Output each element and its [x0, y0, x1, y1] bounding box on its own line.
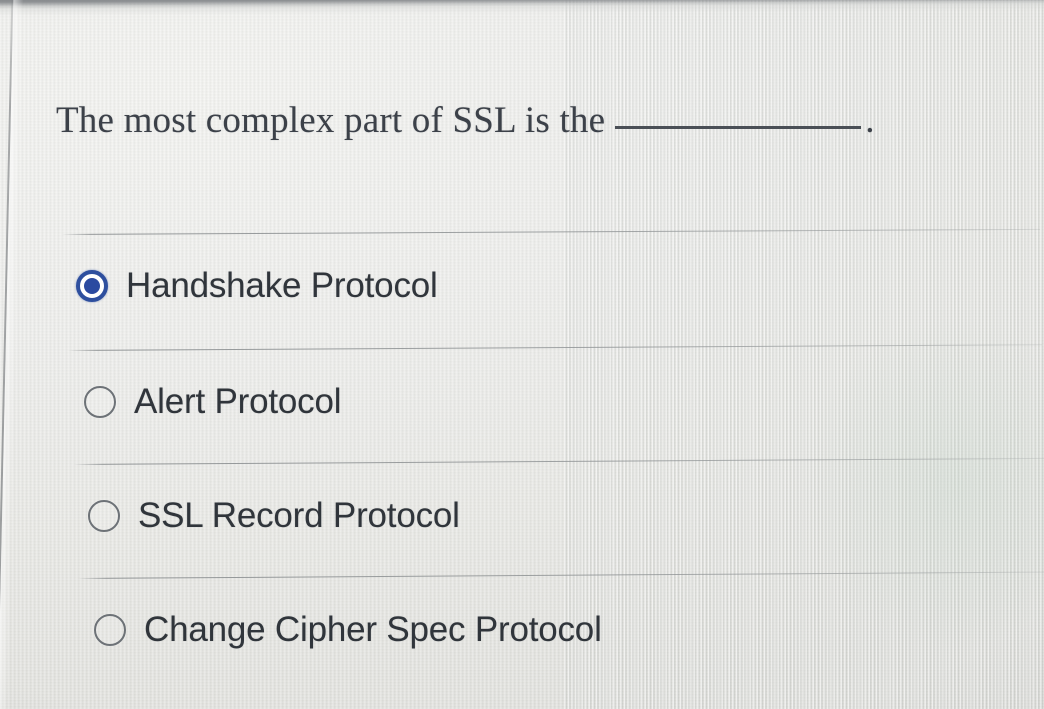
option-row-change-cipher-spec-protocol[interactable]: Change Cipher Spec Protocol: [94, 610, 602, 650]
option-label: SSL Record Protocol: [138, 496, 460, 536]
option-divider: [62, 229, 1040, 235]
radio-unselected-icon[interactable]: [88, 500, 120, 532]
quiz-content: The most complex part of SSL is the. Han…: [0, 0, 1044, 709]
photographed-quiz-screen: The most complex part of SSL is the. Han…: [0, 0, 1044, 709]
radio-unselected-icon[interactable]: [94, 614, 126, 646]
option-label: Change Cipher Spec Protocol: [144, 610, 602, 650]
question-prefix: The most complex part of SSL is the: [56, 100, 605, 141]
option-row-handshake-protocol[interactable]: Handshake Protocol: [76, 266, 438, 306]
option-divider: [78, 572, 1044, 579]
question-suffix: .: [865, 100, 874, 141]
option-label: Handshake Protocol: [126, 266, 438, 306]
option-row-ssl-record-protocol[interactable]: SSL Record Protocol: [88, 496, 460, 536]
option-row-alert-protocol[interactable]: Alert Protocol: [84, 382, 341, 422]
question-text: The most complex part of SSL is the.: [56, 100, 1036, 143]
option-label: Alert Protocol: [134, 382, 341, 422]
option-divider: [74, 458, 1044, 465]
option-divider: [68, 344, 1042, 351]
radio-unselected-icon[interactable]: [84, 386, 116, 418]
radio-selected-icon[interactable]: [76, 270, 108, 302]
question-blank: [615, 106, 861, 129]
